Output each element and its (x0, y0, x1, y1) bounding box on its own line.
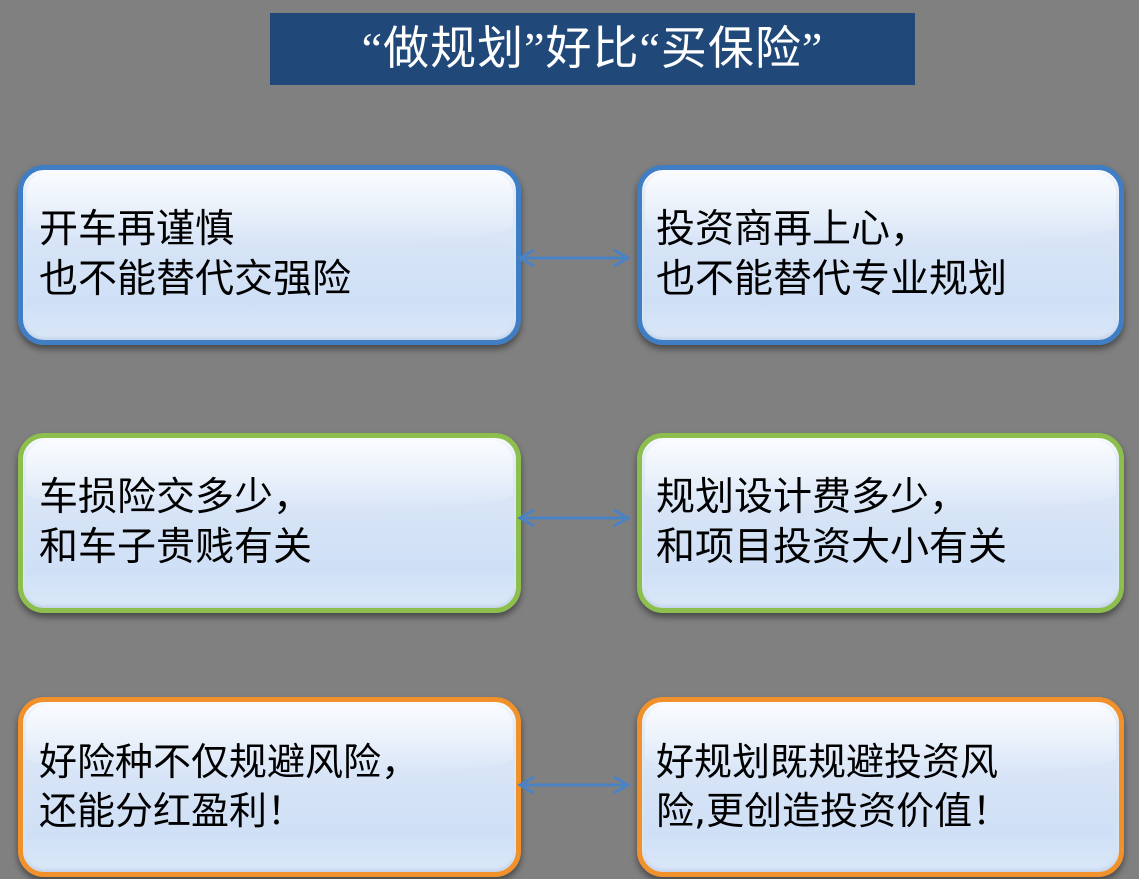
planning-statement-box-2[interactable]: 规划设计费多少， 和项目投资大小有关 (637, 433, 1124, 613)
row-2-right-cell[interactable]: 规划设计费多少， 和项目投资大小有关 (637, 433, 1124, 613)
row-2-left-cell[interactable]: 车损险交多少， 和车子贵贱有关 (18, 433, 521, 613)
insurance-statement-text-1: 开车再谨慎 也不能替代交强险 (23, 205, 516, 305)
double-arrow-icon-3 (512, 774, 636, 796)
insurance-statement-box-3[interactable]: 好险种不仅规避风险， 还能分红盈利！ (18, 697, 521, 877)
page-title: “做规划”好比“买保险” (362, 26, 824, 72)
planning-statement-box-3[interactable]: 好规划既规避投资风 险,更创造投资价值！ (637, 697, 1124, 877)
row-3-left-cell[interactable]: 好险种不仅规避风险， 还能分红盈利！ (18, 697, 521, 877)
planning-statement-text-3: 好规划既规避投资风 险,更创造投资价值！ (642, 738, 1119, 835)
row-1-left-cell[interactable]: 开车再谨慎 也不能替代交强险 (18, 165, 521, 345)
planning-statement-text-1: 投资商再上心， 也不能替代专业规划 (642, 205, 1119, 305)
insurance-statement-box-2[interactable]: 车损险交多少， 和车子贵贱有关 (18, 433, 521, 613)
planning-statement-text-2: 规划设计费多少， 和项目投资大小有关 (642, 473, 1119, 573)
title-banner: “做规划”好比“买保险” (270, 13, 915, 85)
insurance-statement-text-3: 好险种不仅规避风险， 还能分红盈利！ (23, 738, 516, 835)
double-arrow-icon-2 (512, 507, 636, 529)
planning-statement-box-1[interactable]: 投资商再上心， 也不能替代专业规划 (637, 165, 1124, 345)
insurance-statement-text-2: 车损险交多少， 和车子贵贱有关 (23, 473, 516, 573)
insurance-statement-box-1[interactable]: 开车再谨慎 也不能替代交强险 (18, 165, 521, 345)
double-arrow-icon-1 (512, 247, 636, 269)
row-3-right-cell[interactable]: 好规划既规避投资风 险,更创造投资价值！ (637, 697, 1124, 877)
row-1-right-cell[interactable]: 投资商再上心， 也不能替代专业规划 (637, 165, 1124, 345)
